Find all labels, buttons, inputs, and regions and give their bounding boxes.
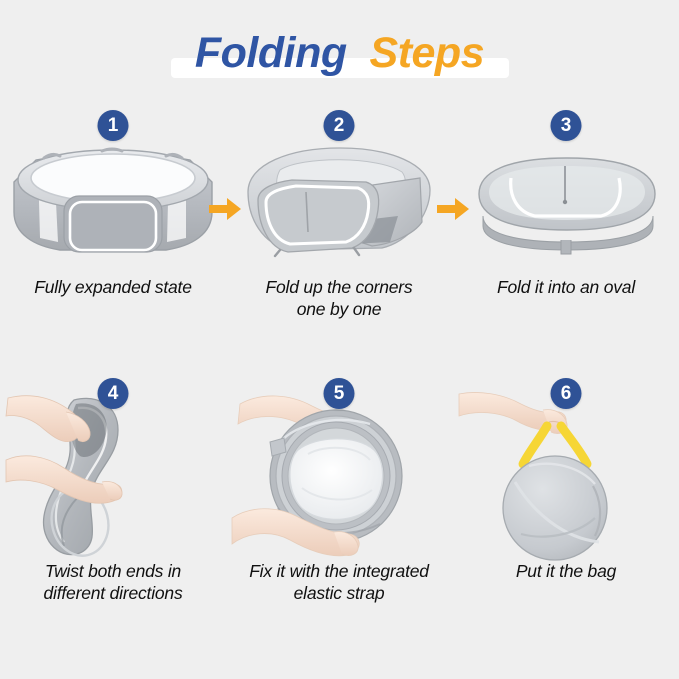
- step-card-4: 4: [0, 364, 226, 632]
- step-caption-2-line2: one by one: [230, 298, 448, 320]
- step-card-2: 2: [226, 96, 452, 364]
- step-caption-3: Fold it into an oval: [457, 276, 675, 298]
- step-badge-5: 5: [324, 378, 355, 409]
- step-badge-1: 1: [98, 110, 129, 141]
- step-caption-6: Put it the bag: [457, 560, 675, 582]
- step-caption-4-line2: different directions: [4, 582, 222, 604]
- arrow-step1-to-step2: [208, 196, 242, 222]
- title-word-steps: Steps: [370, 29, 485, 77]
- title-word-folding: Folding: [195, 29, 347, 77]
- step-caption-1-line1: Fully expanded state: [4, 276, 222, 298]
- steps-grid: 1: [0, 96, 679, 656]
- page-title: Folding Steps: [0, 22, 679, 84]
- step-caption-5-line1: Fix it with the integrated: [230, 560, 448, 582]
- step-caption-1: Fully expanded state: [4, 276, 222, 298]
- illustration-playpen-fully-expanded: [6, 130, 220, 270]
- step-badge-3: 3: [551, 110, 582, 141]
- step-card-1: 1: [0, 96, 226, 364]
- step-caption-4-line1: Twist both ends in: [4, 560, 222, 582]
- step-caption-2: Fold up the corners one by one: [230, 276, 448, 321]
- step-caption-3-line1: Fold it into an oval: [457, 276, 675, 298]
- steps-row-top: 1: [0, 96, 679, 364]
- illustration-playpen-flat-oval: [459, 130, 673, 270]
- step-badge-6: 6: [551, 378, 582, 409]
- title-text: Folding Steps: [195, 29, 484, 78]
- illustration-hands-holding-coiled-bundle: [232, 390, 446, 550]
- step-card-5: 5: [226, 364, 452, 632]
- step-caption-5: Fix it with the integrated elastic strap: [230, 560, 448, 605]
- illustration-hand-carrying-round-bag: [459, 390, 673, 550]
- arrow-step2-to-step3: [436, 196, 470, 222]
- step-caption-2-line1: Fold up the corners: [230, 276, 448, 298]
- illustration-hands-twisting-playpen: [6, 390, 220, 550]
- step-caption-4: Twist both ends in different directions: [4, 560, 222, 605]
- step-card-3: 3: [453, 96, 679, 364]
- steps-row-bottom: 4: [0, 364, 679, 632]
- step-caption-6-line1: Put it the bag: [457, 560, 675, 582]
- step-badge-4: 4: [98, 378, 129, 409]
- step-caption-5-line2: elastic strap: [230, 582, 448, 604]
- illustration-playpen-corners-folded: [232, 130, 446, 270]
- step-card-6: 6: [453, 364, 679, 632]
- step-badge-2: 2: [324, 110, 355, 141]
